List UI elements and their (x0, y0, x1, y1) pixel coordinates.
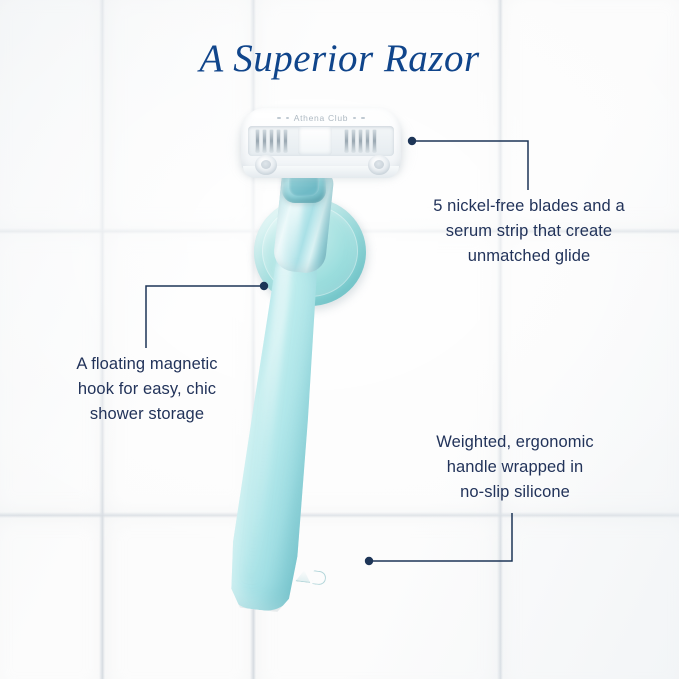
callout-line: A floating magnetic (36, 352, 258, 377)
blade (345, 130, 348, 152)
handle-logo-icon (287, 563, 335, 590)
callout-line: 5 nickel-free blades and a (404, 194, 654, 219)
cartridge-brand-label: Athena Club (241, 110, 401, 126)
blade (366, 130, 369, 152)
blade (284, 130, 287, 152)
blade (352, 130, 355, 152)
callout-line: no-slip silicone (404, 480, 626, 505)
callout-blades: 5 nickel-free blades and aserum strip th… (404, 194, 654, 269)
callout-line: serum strip that create (404, 219, 654, 244)
callout-line: shower storage (36, 402, 258, 427)
callout-line: unmatched glide (404, 244, 654, 269)
callout-hook: A floating magnetichook for easy, chicsh… (36, 352, 258, 427)
brand-dot-icon (286, 117, 289, 120)
lubricating-pod-hole (374, 160, 384, 169)
product-infographic: A Superior Razor Athena Club (0, 0, 679, 679)
blade (270, 130, 273, 152)
brand-dot-icon (353, 117, 356, 120)
brand-dash-icon (277, 117, 281, 119)
callout-line: handle wrapped in (404, 455, 626, 480)
serum-strip (298, 127, 332, 155)
blade (277, 130, 280, 152)
logo-triangle-icon (295, 569, 311, 583)
brand-dash-icon (361, 117, 365, 119)
callout-line: Weighted, ergonomic (404, 430, 626, 455)
logo-c-icon (312, 570, 327, 585)
blade (256, 130, 259, 152)
brand-text: Athena Club (294, 113, 348, 123)
lubricating-pod-hole (261, 160, 271, 169)
callout-handle: Weighted, ergonomichandle wrapped inno-s… (404, 430, 626, 505)
callout-line: hook for easy, chic (36, 377, 258, 402)
razor-product-image: Athena Club (0, 0, 679, 679)
blade (373, 130, 376, 152)
blade (359, 130, 362, 152)
blade (263, 130, 266, 152)
